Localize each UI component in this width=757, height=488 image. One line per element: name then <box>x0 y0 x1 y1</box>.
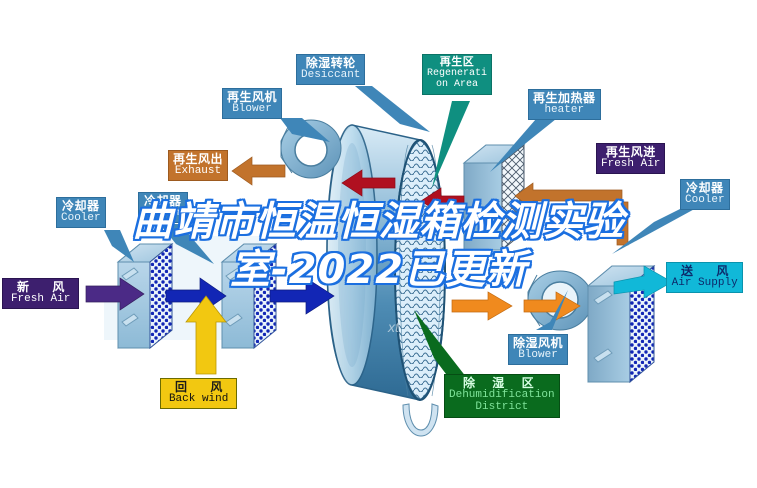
label-cn: 送 风 <box>671 265 738 277</box>
label-cn: 回 风 <box>165 381 232 393</box>
label-en-line2: on Area <box>427 80 487 90</box>
label-cn: 再生区 <box>427 57 487 68</box>
diagram-canvas: xt <box>0 0 757 488</box>
label-cn: 冷却器 <box>61 200 101 212</box>
label-cn: 再生风进 <box>601 146 660 158</box>
label-back-wind: 回 风 Back wind <box>160 378 237 409</box>
label-en: Exhaust <box>173 166 223 177</box>
regeneration-heater-unit <box>464 145 524 250</box>
label-en: Desiccant <box>301 70 360 81</box>
regen-air-arrow <box>515 183 622 209</box>
label-en: heater <box>533 105 596 116</box>
label-en-line2: District <box>449 402 555 413</box>
label-dehumidification-blower: 除湿风机 Blower <box>508 334 568 365</box>
label-en: Cooler <box>685 195 725 206</box>
label-cn: 再生加热器 <box>533 92 596 104</box>
label-cn: 除湿转轮 <box>301 57 360 69</box>
label-cn: 除 湿 区 <box>449 377 555 389</box>
label-en-line1: Dehumidification <box>449 390 555 401</box>
svg-text:xt: xt <box>387 319 400 335</box>
label-dehumidification-district: 除 湿 区 Dehumidification District <box>444 374 560 418</box>
label-regeneration-area: 再生区 Regenerati on Area <box>422 54 492 95</box>
label-en: Blower <box>227 104 277 115</box>
label-cn: 冷却器 <box>143 195 183 207</box>
label-fresh-air-intake: 新 风 Fresh Air <box>2 278 79 309</box>
desiccant-rotor-wheel: xt <box>327 125 445 436</box>
exhaust-arrow <box>232 157 285 185</box>
label-cooler-right: 冷却器 Cooler <box>680 179 730 210</box>
label-regeneration-fresh-air-in: 再生风进 Fresh Air <box>596 143 665 174</box>
label-cn: 冷却器 <box>685 182 725 194</box>
cooler-unit-left-inner <box>222 244 276 348</box>
label-en: Cooler <box>61 213 101 224</box>
label-en: Fresh Air <box>7 294 74 305</box>
label-en: Cooler <box>143 208 183 219</box>
label-cn: 新 风 <box>7 281 74 293</box>
label-cooler-left-inner: 冷却器 Cooler <box>138 192 188 223</box>
label-cn: 除湿风机 <box>513 337 563 349</box>
equipment-illustration: xt <box>0 0 757 488</box>
label-cn: 再生风出 <box>173 153 223 165</box>
label-cooler-left-outer: 冷却器 Cooler <box>56 197 106 228</box>
label-en: Air Supply <box>671 278 738 289</box>
label-air-supply: 送 风 Air Supply <box>666 262 743 293</box>
label-en: Blower <box>513 350 563 361</box>
label-en-line1: Regenerati <box>427 69 487 79</box>
label-cn: 再生风机 <box>227 91 277 103</box>
label-en: Fresh Air <box>601 159 660 170</box>
dry-air-arrow-1 <box>452 292 512 320</box>
label-regeneration-blower: 再生风机 Blower <box>222 88 282 119</box>
regen-air-riser <box>617 202 628 245</box>
label-en: Back wind <box>165 394 232 405</box>
label-regeneration-heater: 再生加热器 heater <box>528 89 601 120</box>
process-arrow-2 <box>270 278 334 314</box>
label-desiccant-wheel: 除湿转轮 Desiccant <box>296 54 365 85</box>
label-regeneration-exhaust: 再生风出 Exhaust <box>168 150 228 181</box>
